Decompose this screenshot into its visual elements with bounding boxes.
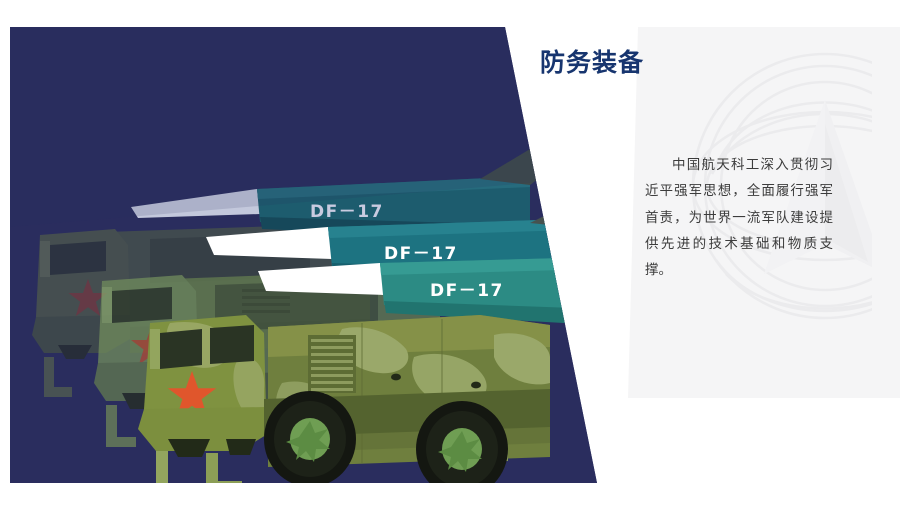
slide-canvas: DF－17 DF－17 DF－17 (0, 0, 900, 510)
missile-launcher-illustration: DF－17 DF－17 DF－17 (10, 27, 600, 483)
outrigger-leg (206, 453, 218, 483)
missile-label: DF－17 (310, 202, 384, 222)
body-paragraph: 中国航天科工深入贯彻习近平强军思想，全面履行强军首责，为世界一流军队建设提供先进… (645, 152, 833, 284)
missile-label: DF－17 (384, 244, 458, 264)
vent-panel (308, 335, 356, 393)
cab-window (160, 329, 202, 369)
missile-label: DF－17 (430, 281, 504, 301)
defense-equipment-image: DF－17 DF－17 DF－17 (10, 27, 600, 483)
wheel-front (264, 391, 356, 483)
cab-window (210, 325, 254, 364)
page-title: 防务装备 (540, 43, 644, 79)
outrigger-leg (156, 451, 168, 483)
